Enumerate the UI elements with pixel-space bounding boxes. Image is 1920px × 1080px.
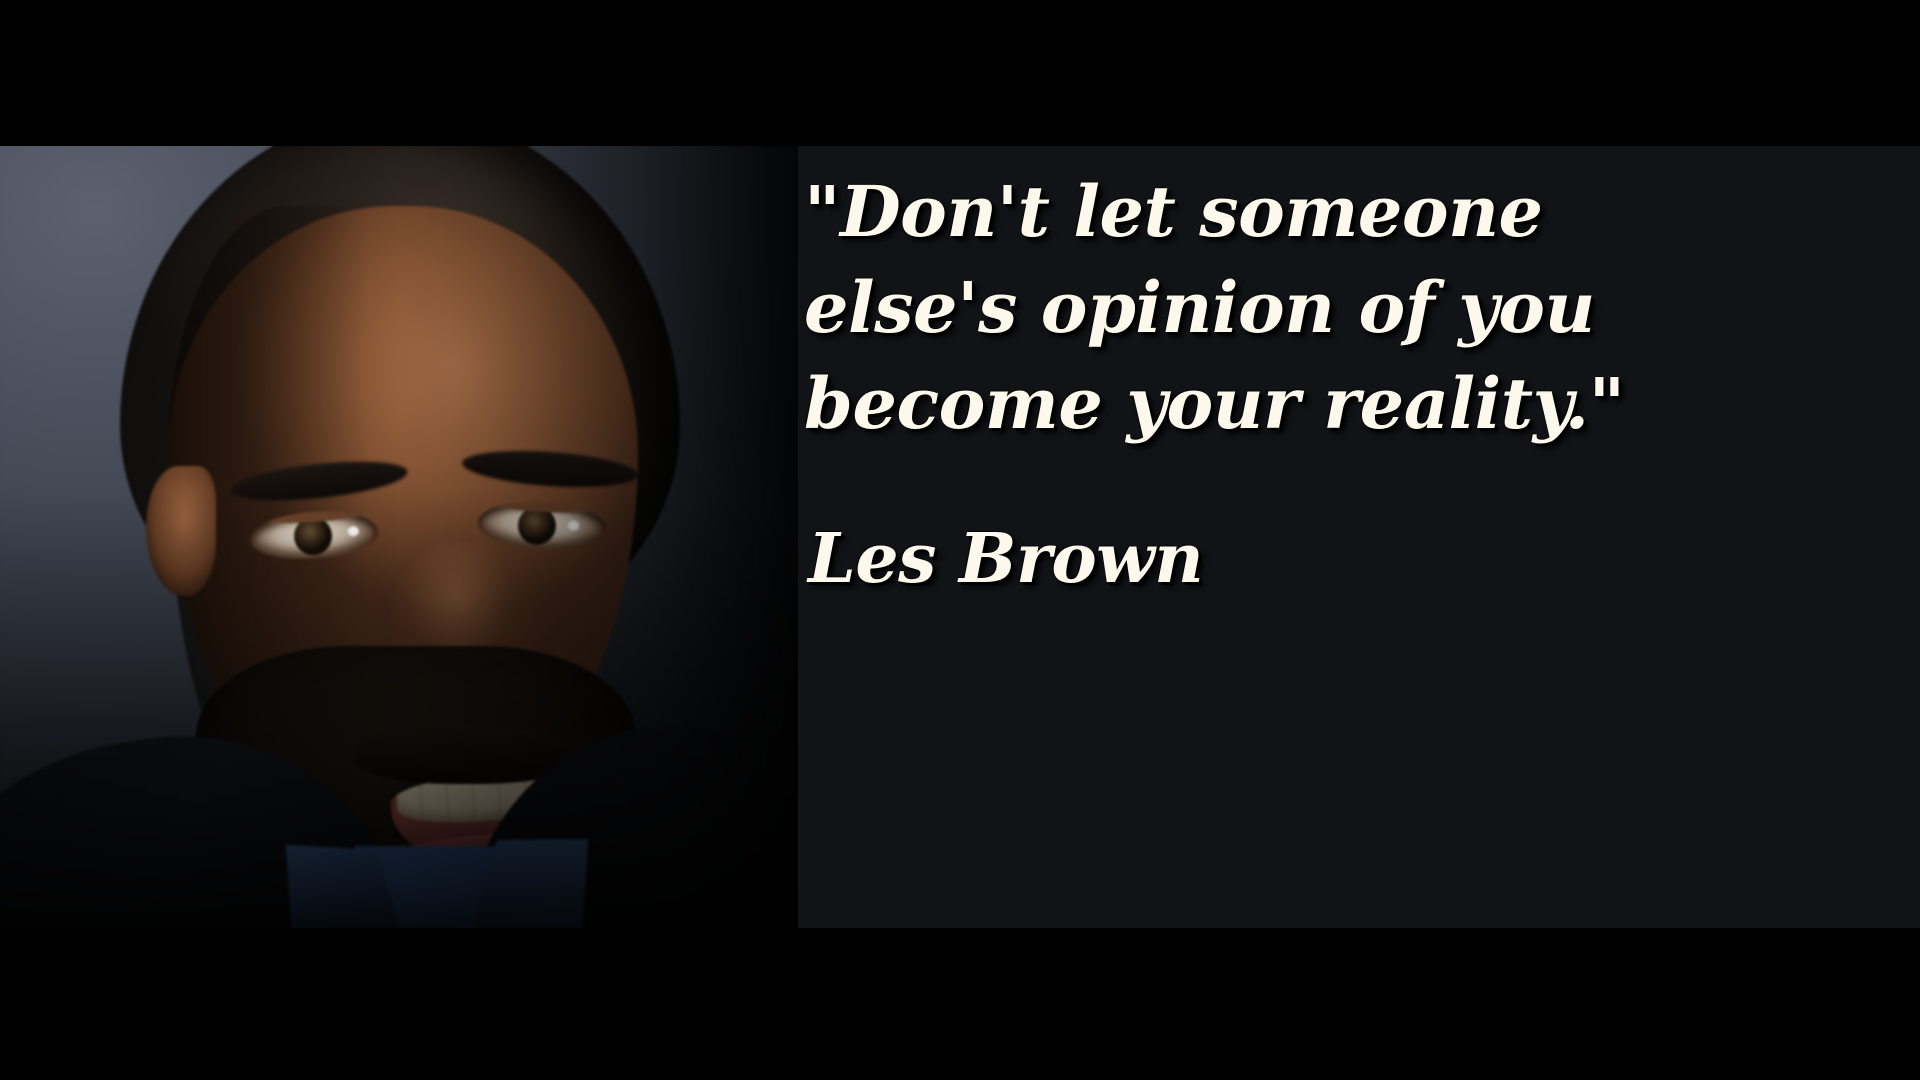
quote-image-frame: "Don't let someone else's opinion of you… <box>0 0 1920 1080</box>
content-band: "Don't let someone else's opinion of you… <box>0 146 1920 928</box>
photo-vignette <box>0 146 798 928</box>
quote-block: "Don't let someone else's opinion of you… <box>800 146 1920 928</box>
quote-line-3: become your reality." <box>804 356 1625 452</box>
quote-line-1: "Don't let someone <box>804 164 1625 260</box>
quote-text: "Don't let someone else's opinion of you… <box>804 164 1625 452</box>
letterbox-bar-top <box>0 0 1920 146</box>
letterbox-bar-bottom <box>0 928 1920 1080</box>
quote-line-2: else's opinion of you <box>804 260 1625 356</box>
portrait-photo <box>0 146 798 928</box>
attribution-name: Les Brown <box>808 516 1203 602</box>
